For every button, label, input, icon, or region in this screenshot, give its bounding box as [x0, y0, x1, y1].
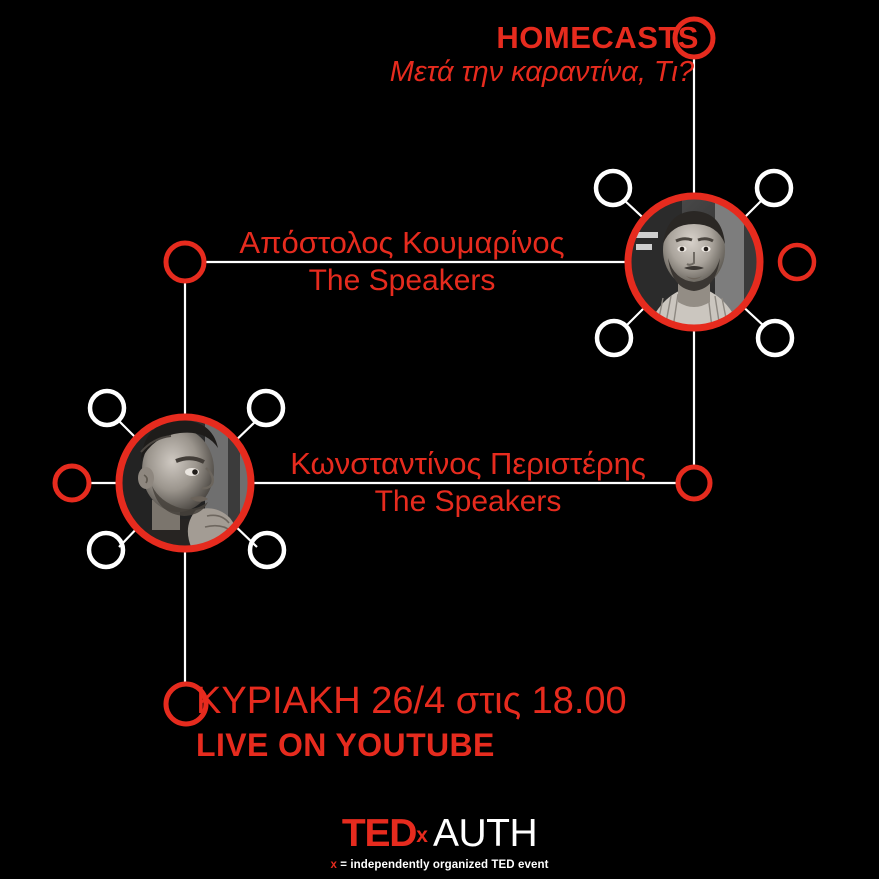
satellite-node-white [596, 171, 630, 205]
logo-wordmark: TEDxAUTH [0, 812, 879, 856]
event-datetime: ΚΥΡΙΑΚΗ 26/4 στις 18.00 [196, 678, 627, 724]
speaker-card-apostolos: Απόστολος Κουμαρίνος The Speakers [182, 224, 622, 300]
satellite-node-white [90, 391, 124, 425]
satellite-node-white [89, 533, 123, 567]
node-red-speaker2-start [55, 466, 89, 500]
satellite-node-white [757, 171, 791, 205]
event-details: ΚΥΡΙΑΚΗ 26/4 στις 18.00 LIVE ON YOUTUBE [196, 678, 627, 766]
speaker-name: Κωνσταντίνος Περιστέρης [248, 445, 688, 483]
logo-auth-text: AUTH [433, 812, 537, 855]
speaker-card-konstantinos: Κωνσταντίνος Περιστέρης The Speakers [248, 445, 688, 521]
speaker-name: Απόστολος Κουμαρίνος [182, 224, 622, 262]
logo-ted-text: TED [342, 812, 416, 855]
speaker-photo-konstantinos [119, 417, 251, 549]
connector-lines [89, 57, 694, 684]
tedx-auth-logo: TEDxAUTH x = independently organized TED… [0, 812, 879, 871]
satellite-node-white [758, 321, 792, 355]
satellite-node-white [249, 391, 283, 425]
logo-tagline-x: x [330, 859, 337, 871]
satellite-node-white [597, 321, 631, 355]
page-title: HOMECASTS [0, 20, 699, 56]
speaker-role: The Speakers [248, 483, 688, 521]
logo-x-text: x [416, 824, 428, 847]
logo-tagline: x = independently organized TED event [0, 859, 879, 871]
poster-canvas: HOMECASTS Μετά την καραντίνα, Τι? Απόστο… [0, 0, 879, 879]
speaker-photo-apostolos [628, 196, 760, 328]
satellite-node-white [250, 533, 284, 567]
satellite-node-red [780, 245, 814, 279]
speaker-role: The Speakers [182, 262, 622, 300]
page-subtitle: Μετά την καραντίνα, Τι? [0, 56, 694, 89]
logo-tagline-text: = independently organized TED event [340, 859, 548, 871]
event-channel: LIVE ON YOUTUBE [196, 724, 627, 766]
